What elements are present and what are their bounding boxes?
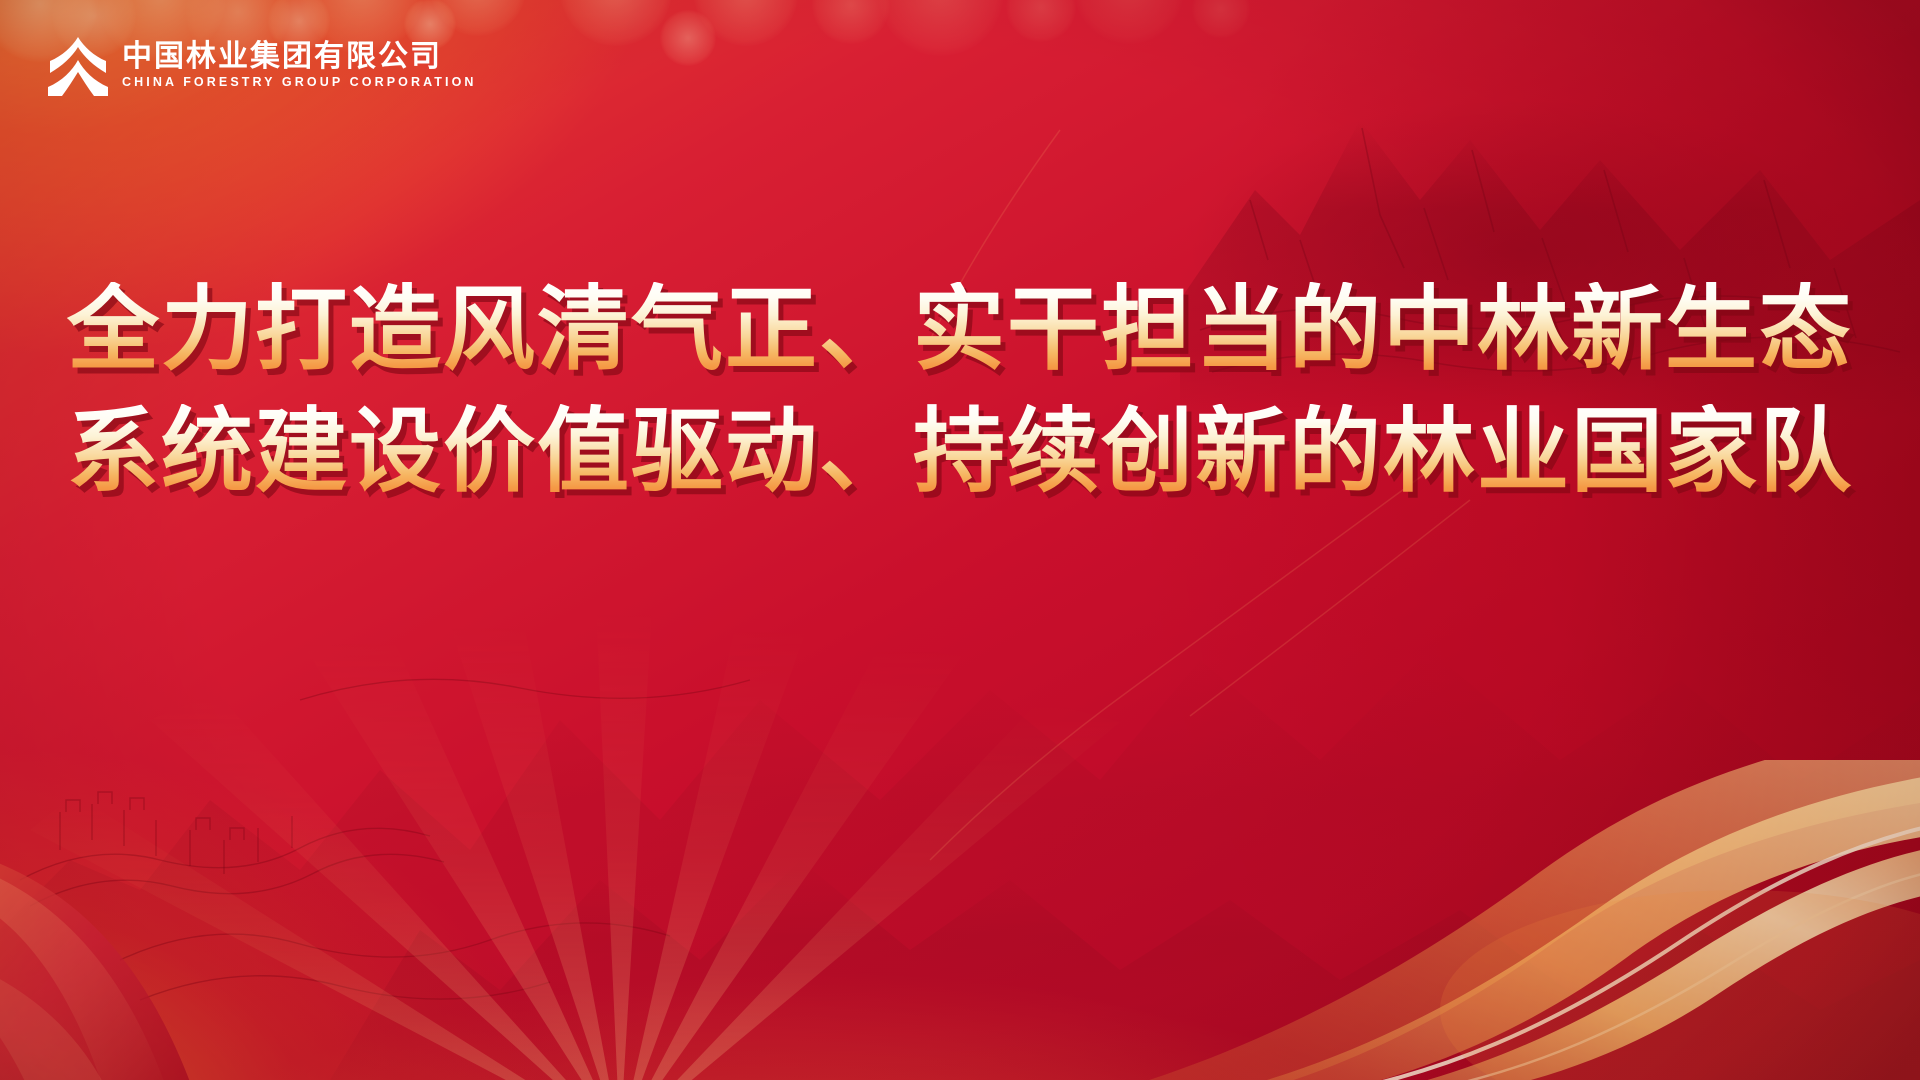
china-forestry-group-pagoda-logo xyxy=(48,34,108,96)
headline-line-2: 系统建设价值驱动、持续创新的林业国家队 xyxy=(67,404,1853,500)
logo-lockup: 中国林业集团有限公司 CHINA FORESTRY GROUP CORPORAT… xyxy=(48,34,477,96)
headline-block: 全力打造风清气正、实干担当的中林新生态 系统建设价值驱动、持续创新的林业国家队 xyxy=(0,282,1920,499)
headline-line-1: 全力打造风清气正、实干担当的中林新生态 xyxy=(67,282,1853,378)
poster-canvas: 中国林业集团有限公司 CHINA FORESTRY GROUP CORPORAT… xyxy=(0,0,1920,1080)
golden-ribbon-swoosh xyxy=(1040,760,1920,1080)
mountain-great-wall-ink-texture xyxy=(0,0,1920,1080)
red-silk-fold xyxy=(0,810,390,1080)
company-name-cn: 中国林业集团有限公司 xyxy=(122,42,477,72)
radial-light-rays xyxy=(0,580,1300,1080)
vignette-overlay xyxy=(0,0,1920,1080)
logo-wordmark: 中国林业集团有限公司 CHINA FORESTRY GROUP CORPORAT… xyxy=(122,42,477,89)
company-name-en: CHINA FORESTRY GROUP CORPORATION xyxy=(122,76,477,89)
